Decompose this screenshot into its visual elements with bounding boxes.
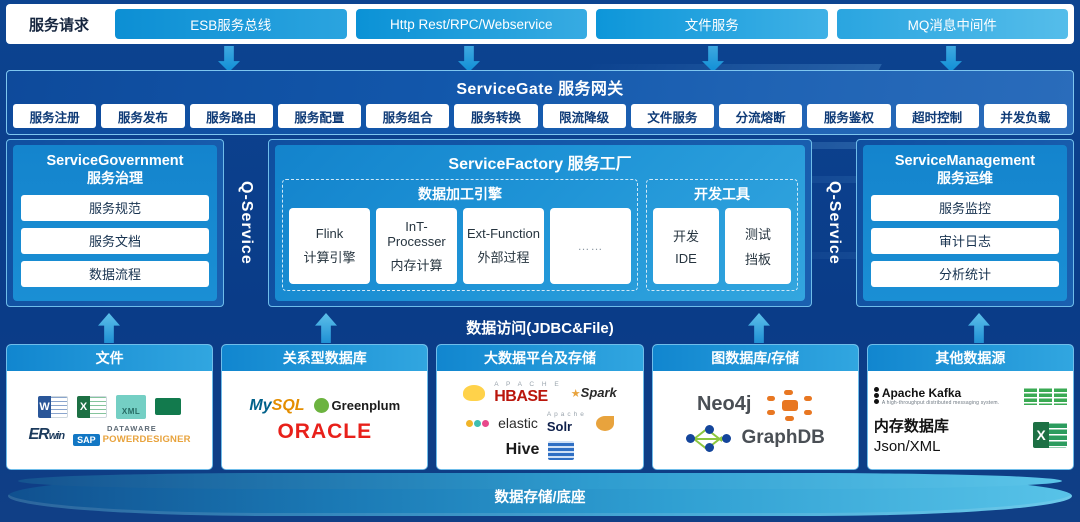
dev-tool-test-desc: 挡板 (745, 249, 771, 268)
greenplum-logo: Greenplum (314, 397, 401, 415)
data-source-card-row: 文件 W X XML ERwin DATAWARE SAP POWERDESIG… (6, 344, 1074, 470)
gov-item-standards[interactable]: 服务规范 (21, 195, 209, 221)
files-logo-row-1: W X XML (38, 395, 181, 419)
gate-tag-fileservice[interactable]: 文件服务 (631, 104, 714, 128)
card-header-bigdata: 大数据平台及存储 (437, 345, 642, 371)
elastic-logo: elastic (498, 415, 538, 431)
gov-item-docs[interactable]: 服务文档 (21, 228, 209, 254)
files-logo-row-2: ERwin DATAWARE SAP POWERDESIGNER (29, 424, 191, 446)
service-factory-title: ServiceFactory 服务工厂 (282, 150, 798, 174)
engine-card-list: Flink 计算引擎 InT-Processer 内存计算 Ext-Functi… (289, 208, 631, 284)
bigdata-logo-row-1: A P A C H E HBASE ★Spark (463, 381, 617, 406)
engine-card-more[interactable]: …… (550, 208, 631, 284)
gate-tag-auth[interactable]: 服务鉴权 (807, 104, 890, 128)
mysql-logo: MySQL (249, 397, 304, 415)
hive-doc-icon (548, 441, 574, 460)
engine-card-ext-function[interactable]: Ext-Function 外部过程 (463, 208, 544, 284)
bigdata-logo-row-3: Hive (506, 441, 575, 460)
gate-tag-transform[interactable]: 服务转换 (454, 104, 537, 128)
engine-card-flink[interactable]: Flink 计算引擎 (289, 208, 370, 284)
card-header-graphdb: 图数据库/存储 (653, 345, 858, 371)
service-gate-panel: ServiceGate 服务网关 服务注册 服务发布 服务路由 服务配置 服务组… (6, 70, 1074, 135)
engine-card-flink-desc: 计算引擎 (303, 247, 355, 266)
data-source-card-rdbms[interactable]: 关系型数据库 MySQL Greenplum ORACLE (221, 344, 428, 470)
gate-tag-timeout[interactable]: 超时控制 (896, 104, 979, 128)
data-source-card-bigdata[interactable]: 大数据平台及存储 A P A C H E HBASE ★Spark (436, 344, 643, 470)
gov-item-dataflow[interactable]: 数据流程 (21, 261, 209, 287)
oracle-logo: ORACLE (277, 420, 372, 444)
diagram-canvas: 服务请求 ESB服务总线 Http Rest/RPC/Webservice 文件… (0, 0, 1080, 522)
service-gate-tag-list: 服务注册 服务发布 服务路由 服务配置 服务组合 服务转换 限流降级 文件服务 … (7, 99, 1073, 128)
q-service-left-label: Q-Service (237, 181, 255, 265)
q-service-right-column: Q-Service (812, 139, 856, 307)
graphdb-node-icon (765, 390, 813, 420)
gate-tag-compose[interactable]: 服务组合 (366, 104, 449, 128)
service-chip-file[interactable]: 文件服务 (596, 9, 828, 39)
service-government-inner: ServiceGovernment 服务治理 服务规范 服务文档 数据流程 (13, 145, 217, 301)
card-body-bigdata: A P A C H E HBASE ★Spark elastic Apache … (437, 371, 642, 469)
engine-card-flink-name: Flink (316, 226, 343, 241)
service-chip-mq[interactable]: MQ消息中间件 (837, 9, 1069, 39)
powerdesigner-logo: POWERDESIGNER (103, 434, 191, 445)
card-body-other: Apache Kafka A high-throughput distribut… (868, 371, 1073, 469)
hive-logo: Hive (506, 441, 540, 459)
erwin-logo: ERwin (29, 426, 65, 444)
dev-tool-test-name: 测试 (745, 224, 771, 243)
green-doc-icon (155, 398, 181, 415)
engine-card-ext-desc: 外部过程 (477, 247, 529, 266)
dev-tool-ide-desc: IDE (675, 251, 697, 266)
solr-logo: Apache Solr (547, 411, 587, 436)
q-service-right-label: Q-Service (825, 181, 843, 265)
gate-tag-throttle[interactable]: 限流降级 (543, 104, 626, 128)
excel-icon: X (77, 396, 107, 418)
dataware-logo: DATAWARE (107, 424, 157, 433)
green-table-icon (1024, 387, 1067, 405)
arrow-down-icon (218, 46, 240, 72)
dev-tool-ide-name: 开发 (673, 226, 699, 245)
elasticsearch-icon (466, 420, 489, 427)
excel-large-icon: X (1033, 422, 1067, 448)
graphdb-logo-row-2: GraphDB (686, 425, 825, 451)
card-body-graphdb: Neo4j (653, 371, 858, 469)
mgmt-item-analytics[interactable]: 分析统计 (871, 261, 1059, 287)
service-request-label: 服务请求 (12, 14, 106, 35)
service-government-title-en: ServiceGovernment (21, 152, 209, 170)
service-factory-panel: ServiceFactory 服务工厂 数据加工引擎 Flink 计算引擎 In… (268, 139, 812, 307)
engine-card-int-name: InT-Processer (378, 219, 455, 249)
in-memory-db-label: 内存数据库 (874, 415, 949, 436)
service-government-title: ServiceGovernment 服务治理 (21, 152, 209, 188)
gate-tag-route[interactable]: 服务路由 (190, 104, 273, 128)
engine-card-int-desc: 内存计算 (390, 255, 442, 274)
spark-logo: ★Spark (571, 384, 617, 402)
solr-sun-icon (596, 416, 614, 431)
dev-tools-title: 开发工具 (653, 184, 791, 204)
json-xml-label: Json/XML (874, 438, 949, 455)
card-body-rdbms: MySQL Greenplum ORACLE (222, 371, 427, 469)
arrow-down-icon (458, 46, 480, 72)
gate-tag-circuitbreak[interactable]: 分流熔断 (719, 104, 802, 128)
middle-row: ServiceGovernment 服务治理 服务规范 服务文档 数据流程 Q-… (6, 139, 1074, 307)
sap-logo: SAP (73, 434, 100, 446)
arrow-down-icon (940, 46, 962, 72)
data-access-label: 数据访问(JDBC&File) (0, 317, 1080, 338)
q-service-left-column: Q-Service (224, 139, 268, 307)
service-management-panel: ServiceManagement 服务运维 服务监控 审计日志 分析统计 (856, 139, 1074, 307)
service-government-title-cn: 服务治理 (21, 170, 209, 188)
bigdata-logo-row-2: elastic Apache Solr (466, 411, 614, 436)
gate-tag-concurrency[interactable]: 并发负载 (984, 104, 1067, 128)
hive-bee-icon (463, 385, 485, 401)
mgmt-item-monitor[interactable]: 服务监控 (871, 195, 1059, 221)
dev-tools-group: 开发工具 开发 IDE 测试 挡板 (646, 179, 798, 291)
service-chip-esb[interactable]: ESB服务总线 (115, 9, 347, 39)
card-header-other: 其他数据源 (868, 345, 1073, 371)
service-chip-http[interactable]: Http Rest/RPC/Webservice (356, 9, 588, 39)
rdbms-logo-row-2: ORACLE (277, 420, 372, 444)
kafka-node-icon (874, 387, 879, 404)
storage-foundation-banner: 数据存储/底座 (0, 470, 1080, 518)
word-icon: W (38, 396, 68, 418)
xml-icon: XML (116, 395, 146, 419)
kafka-logo: Apache Kafka A high-throughput distribut… (874, 386, 1000, 406)
rdbms-logo-row-1: MySQL Greenplum (249, 397, 400, 415)
service-factory-body: 数据加工引擎 Flink 计算引擎 InT-Processer 内存计算 (282, 179, 798, 291)
gate-tag-register[interactable]: 服务注册 (13, 104, 96, 128)
service-management-inner: ServiceManagement 服务运维 服务监控 审计日志 分析统计 (863, 145, 1067, 301)
dev-tool-card-ide[interactable]: 开发 IDE (653, 208, 719, 284)
hbase-logo: A P A C H E HBASE (494, 381, 562, 406)
card-header-files: 文件 (7, 345, 212, 371)
service-management-item-list: 服务监控 审计日志 分析统计 (871, 195, 1059, 287)
service-management-title-cn: 服务运维 (871, 170, 1059, 188)
gate-tag-publish[interactable]: 服务发布 (101, 104, 184, 128)
data-processing-engine-group: 数据加工引擎 Flink 计算引擎 InT-Processer 内存计算 (282, 179, 638, 291)
service-management-title: ServiceManagement 服务运维 (871, 152, 1059, 188)
service-management-title-en: ServiceManagement (871, 152, 1059, 170)
card-body-files: W X XML ERwin DATAWARE SAP POWERDESIGNER (7, 371, 212, 469)
storage-foundation-label: 数据存储/底座 (0, 486, 1080, 507)
service-government-item-list: 服务规范 服务文档 数据流程 (21, 195, 209, 287)
data-access-band: 数据访问(JDBC&File) (0, 311, 1080, 345)
engine-card-ext-name: Ext-Function (467, 226, 540, 241)
service-request-bar: 服务请求 ESB服务总线 Http Rest/RPC/Webservice 文件… (6, 4, 1074, 44)
data-source-card-files[interactable]: 文件 W X XML ERwin DATAWARE SAP POWERDESIG… (6, 344, 213, 470)
data-source-card-graphdb[interactable]: 图数据库/存储 Neo4j (652, 344, 859, 470)
dev-tools-card-list: 开发 IDE 测试 挡板 (653, 208, 791, 284)
graphdb-logo: GraphDB (742, 427, 825, 449)
engine-card-int-processer[interactable]: InT-Processer 内存计算 (376, 208, 457, 284)
data-processing-engine-title: 数据加工引擎 (289, 184, 631, 204)
mgmt-item-auditlog[interactable]: 审计日志 (871, 228, 1059, 254)
service-government-panel: ServiceGovernment 服务治理 服务规范 服务文档 数据流程 (6, 139, 224, 307)
data-source-card-other[interactable]: 其他数据源 Apache Kafka A high-throughput dis… (867, 344, 1074, 470)
service-gate-title: ServiceGate 服务网关 (7, 75, 1073, 99)
dev-tool-card-test[interactable]: 测试 挡板 (725, 208, 791, 284)
gate-tag-config[interactable]: 服务配置 (278, 104, 361, 128)
card-header-rdbms: 关系型数据库 (222, 345, 427, 371)
neo4j-node-icon (686, 425, 732, 451)
graphdb-logo-row-1: Neo4j (697, 390, 813, 420)
service-factory-inner: ServiceFactory 服务工厂 数据加工引擎 Flink 计算引擎 In… (275, 145, 805, 301)
arrow-down-icon (702, 46, 724, 72)
neo4j-logo: Neo4j (697, 393, 751, 416)
